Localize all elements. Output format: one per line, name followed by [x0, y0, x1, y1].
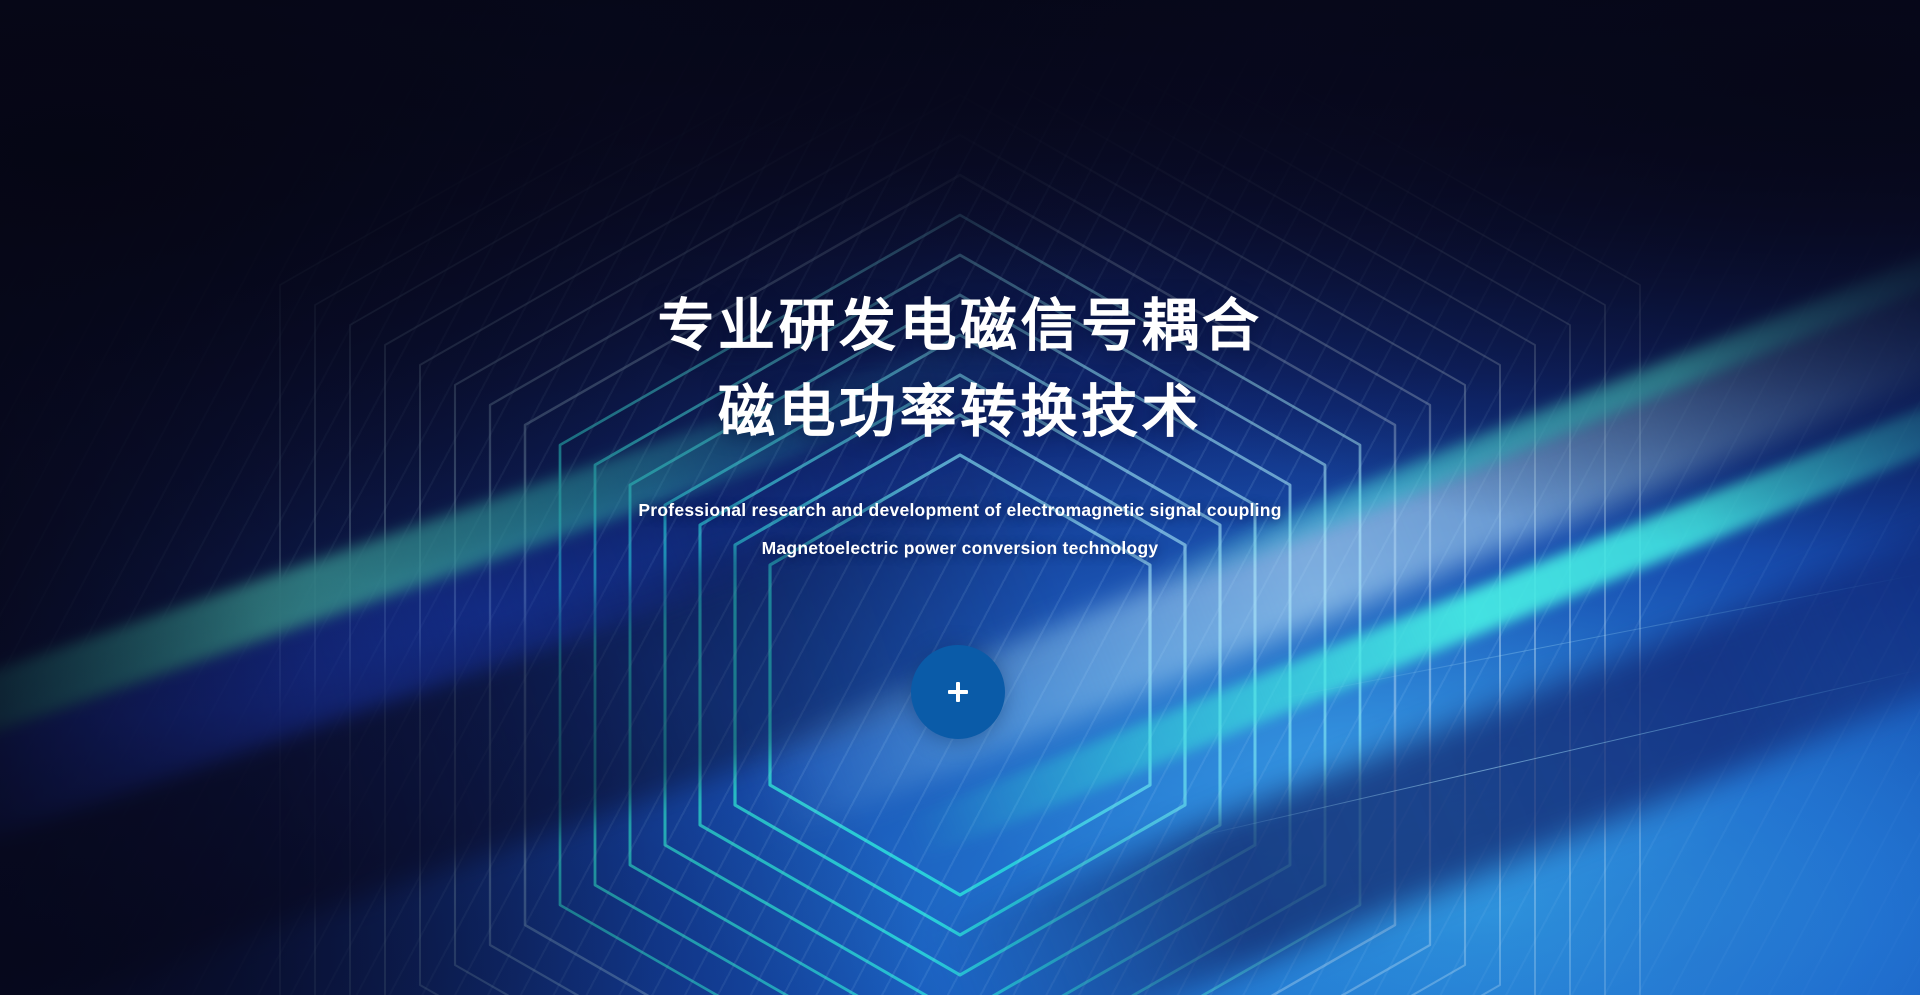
plus-icon	[945, 679, 971, 705]
expand-plus-button[interactable]	[911, 645, 1005, 739]
hero-content: 专业研发电磁信号耦合 磁电功率转换技术 Professional researc…	[0, 0, 1920, 995]
hero-title-line-1: 专业研发电磁信号耦合	[658, 283, 1263, 369]
hero-subtitle-line-2: Magnetoelectric power conversion technol…	[762, 538, 1159, 559]
hero-title-line-2: 磁电功率转换技术	[718, 369, 1202, 455]
hero-banner: 专业研发电磁信号耦合 磁电功率转换技术 Professional researc…	[0, 0, 1920, 995]
hero-subtitle-line-1: Professional research and development of…	[638, 500, 1281, 521]
